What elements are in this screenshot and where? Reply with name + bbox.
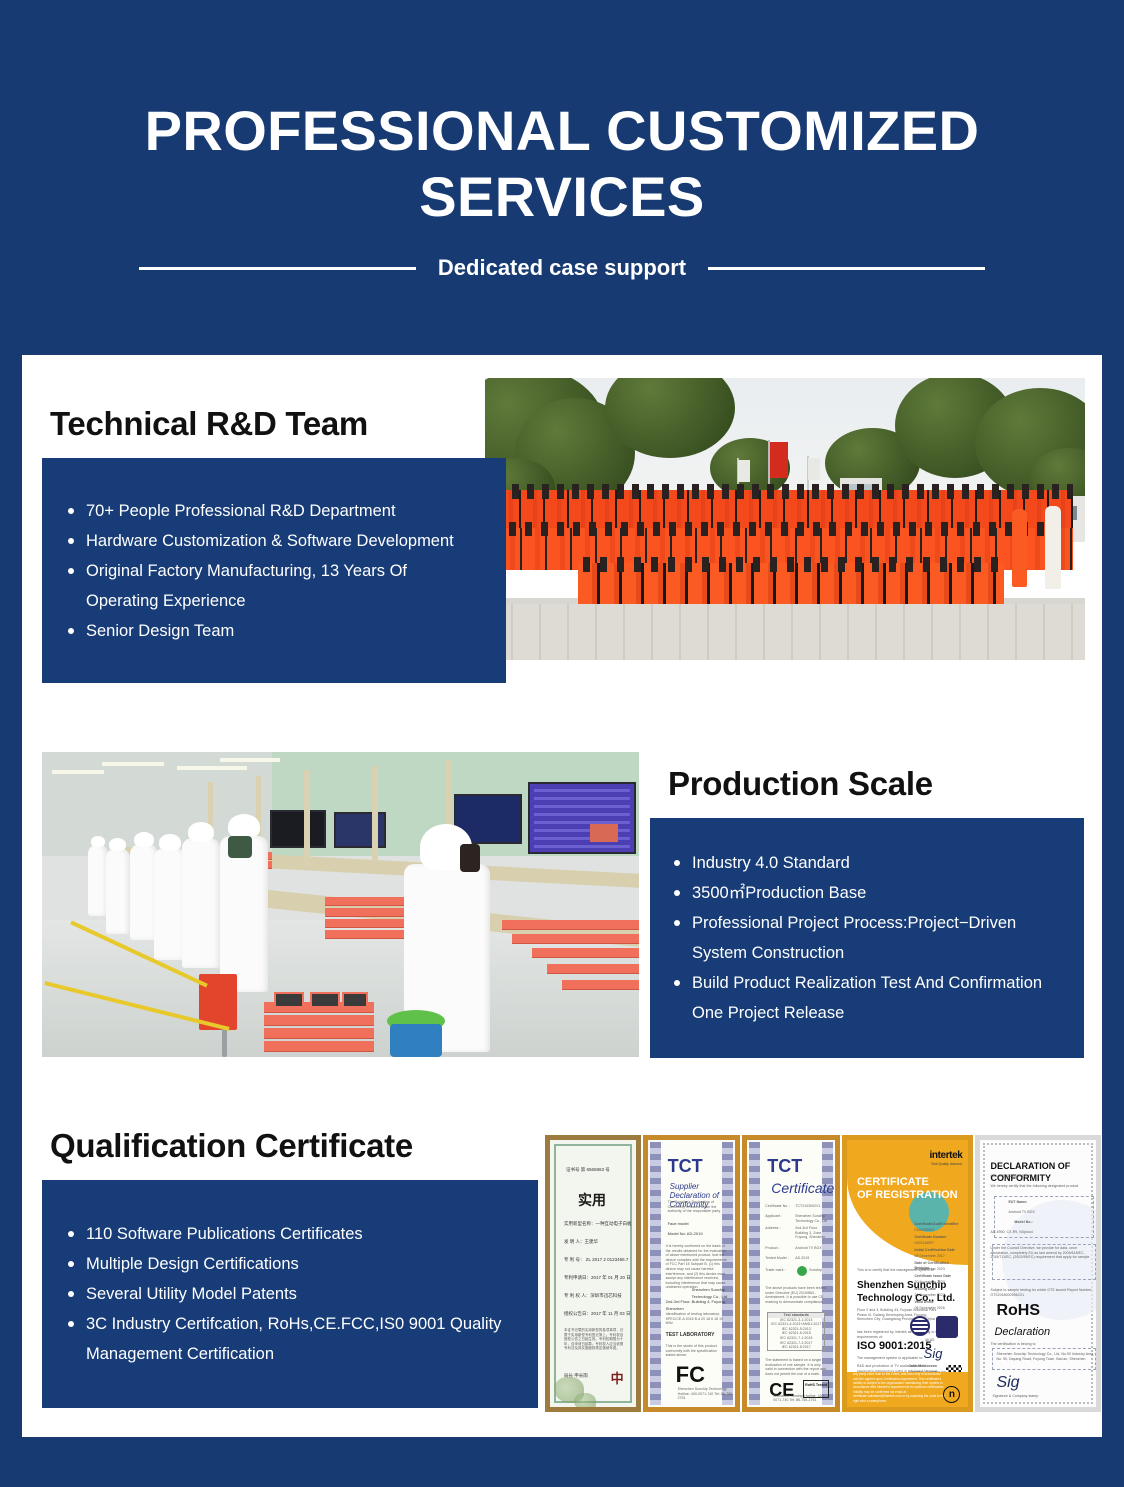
list-item: 3500㎡Production Base — [672, 878, 1062, 908]
list-item: 110 Software Publications Certificates — [66, 1219, 514, 1249]
header-subtitle-row: Dedicated case support — [0, 255, 1124, 281]
certificate-fcc[interactable]: TCT Supplier Declaration of Conformity T… — [643, 1135, 741, 1412]
divider-left — [139, 267, 416, 270]
list-item: Industry 4.0 Standard — [672, 848, 1062, 878]
image-group-photo — [485, 378, 1085, 660]
list-item: Professional Project Process:Project−Dri… — [672, 908, 1062, 968]
divider-right — [708, 267, 985, 270]
list-item: Original Factory Manufacturing, 13 Years… — [66, 556, 482, 616]
crowd-of-employees — [497, 485, 1073, 603]
certificates-gallery: 证书号 第 6565863 号 实用 实用新型名称：一种互动电子白板 发 明 人… — [545, 1135, 1101, 1412]
section-heading-qualification: Qualification Certificate — [50, 1127, 413, 1165]
content-card: Technical R&D Team — [22, 355, 1102, 1437]
certificate-rohs[interactable]: DECLARATION OF CONFORMITY No.: GTS201800… — [975, 1135, 1101, 1412]
certificate-ce[interactable]: TCT Certificate Certificate No. : TCT210… — [742, 1135, 840, 1412]
list-item: Build Product Realization Test And Confi… — [672, 968, 1062, 1028]
poster-root: PROFESSIONAL CUSTOMIZED SERVICES Dedicat… — [0, 0, 1124, 1487]
list-item: Several Utility Model Patents — [66, 1279, 514, 1309]
list-item: 70+ People Professional R&D Department — [66, 496, 482, 526]
bullets-panel-production-scale: Industry 4.0 Standard 3500㎡Production Ba… — [650, 818, 1084, 1058]
bullets-panel-rd-team: 70+ People Professional R&D Department H… — [42, 458, 506, 683]
section-heading-rd-team: Technical R&D Team — [50, 405, 368, 443]
page-header: PROFESSIONAL CUSTOMIZED SERVICES Dedicat… — [0, 0, 1124, 355]
image-production-line — [42, 752, 639, 1057]
list-item: Multiple Design Certifications — [66, 1249, 514, 1279]
list-item: 3C Industry Certifcation, RoHs,CE.FCC,IS… — [66, 1309, 514, 1369]
header-subtitle: Dedicated case support — [416, 255, 708, 281]
list-item: Hardware Customization & Software Develo… — [66, 526, 482, 556]
list-item: Senior Design Team — [66, 616, 482, 646]
certificate-cn-patent[interactable]: 证书号 第 6565863 号 实用 实用新型名称：一种互动电子白板 发 明 人… — [545, 1135, 641, 1412]
certificate-iso-9001[interactable]: intertek Total Quality. Assured. CERTIFI… — [842, 1135, 974, 1412]
section-heading-production-scale: Production Scale — [668, 765, 933, 803]
page-title: PROFESSIONAL CUSTOMIZED SERVICES — [62, 98, 1062, 230]
bullets-panel-qualification: 110 Software Publications Certificates M… — [42, 1180, 538, 1408]
